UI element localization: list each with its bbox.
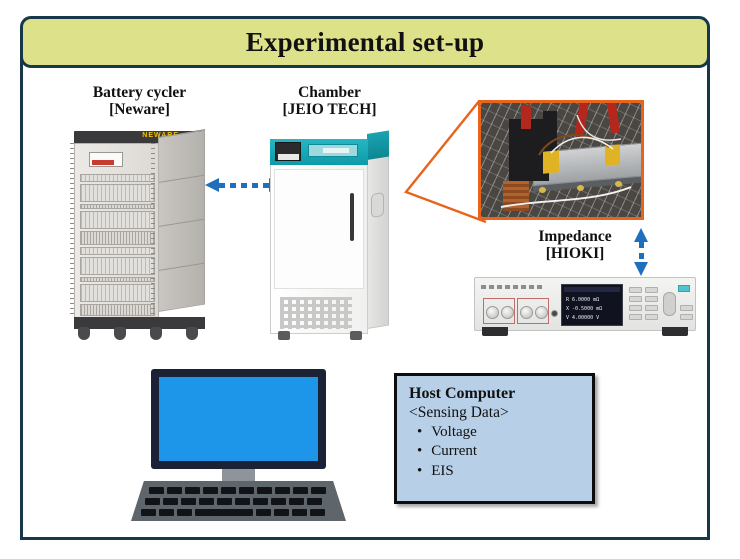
meter-terminal — [520, 306, 533, 319]
chamber-controller-display — [275, 142, 301, 161]
arrow-dashes — [639, 242, 644, 262]
chamber-image — [264, 131, 394, 341]
chamber-side-panel — [367, 131, 389, 329]
caption-battery-cycler: Battery cycler [Neware] — [66, 84, 213, 119]
impedance-meter-image: R 6.0000 mΩ X -0.5000 mΩ V 4.00000 V — [474, 277, 696, 339]
caption-impedance: Impedance [HIOKI] — [518, 228, 632, 263]
meter-key[interactable] — [645, 287, 658, 293]
meter-key[interactable] — [629, 287, 642, 293]
meter-key[interactable] — [629, 305, 642, 311]
arrow-head-up-icon — [634, 228, 648, 242]
photo-bolt — [577, 185, 584, 191]
meter-key[interactable] — [680, 305, 693, 311]
arrow-dashes — [219, 183, 269, 188]
meter-key[interactable] — [629, 296, 642, 302]
battery-pack-photo — [478, 100, 644, 220]
chamber-caster — [278, 331, 290, 340]
host-box-item-label: Current — [431, 443, 477, 459]
meter-lcd-display: R 6.0000 mΩ X -0.5000 mΩ V 4.00000 V — [561, 284, 623, 326]
monitor-screen — [159, 377, 318, 461]
cycler-side-seam — [159, 263, 204, 271]
caption-chamber: Chamber [JEIO TECH] — [256, 84, 403, 119]
cycler-module — [80, 257, 155, 275]
cycler-module — [80, 247, 155, 255]
meter-foot — [482, 327, 508, 336]
meter-body: R 6.0000 mΩ X -0.5000 mΩ V 4.00000 V — [474, 277, 696, 331]
meter-lcd-statusbar — [564, 287, 620, 292]
caption-impedance-line1: Impedance — [518, 228, 632, 245]
meter-key[interactable] — [645, 305, 658, 311]
caption-impedance-line2: [HIOKI] — [518, 245, 632, 262]
meter-key[interactable] — [629, 314, 642, 320]
host-box-subtitle: <Sensing Data> — [409, 403, 592, 422]
chamber-controller-keypad — [308, 144, 358, 157]
host-box-bullet: • — [417, 463, 431, 479]
cycler-front-panel — [74, 143, 159, 318]
meter-power-button[interactable] — [678, 285, 690, 292]
cycler-caster — [150, 327, 162, 340]
host-box-bullet: • — [417, 424, 431, 440]
meter-key[interactable] — [645, 296, 658, 302]
meter-reading-resistance: R 6.0000 mΩ — [566, 297, 599, 303]
caption-battery-cycler-line1: Battery cycler — [66, 84, 213, 101]
cycler-module — [80, 211, 155, 229]
caption-chamber-line2: [JEIO TECH] — [256, 101, 403, 118]
cycler-module — [80, 184, 155, 202]
cycler-module-slim — [80, 304, 155, 316]
arrow-head-left-icon — [205, 178, 219, 192]
meter-navigation-pad[interactable] — [663, 292, 676, 316]
meter-terminal — [535, 306, 548, 319]
host-box-item: •Current — [409, 442, 592, 462]
meter-reading-reactance: X -0.5000 mΩ — [566, 306, 602, 312]
host-box-item-label: Voltage — [431, 424, 477, 440]
cycler-caster — [114, 327, 126, 340]
cycler-rail-left — [70, 143, 74, 318]
cycler-caster — [186, 327, 198, 340]
cycler-caster — [78, 327, 90, 340]
chamber-vent-grille — [280, 297, 352, 329]
cycler-module — [80, 284, 155, 302]
cycler-side-panel — [158, 130, 205, 312]
cycler-side-seam — [159, 219, 204, 227]
cycler-module-slim — [80, 277, 155, 282]
keyboard[interactable] — [131, 481, 346, 521]
cycler-module — [80, 174, 155, 182]
caption-chamber-line1: Chamber — [256, 84, 403, 101]
meter-model-text — [481, 285, 543, 289]
host-box-item: •EIS — [409, 462, 592, 482]
meter-terminal — [486, 306, 499, 319]
host-computer-image — [131, 369, 346, 524]
meter-key[interactable] — [680, 314, 693, 320]
chamber-door-handle — [350, 193, 354, 241]
chamber-side-knob — [371, 192, 384, 218]
chamber-control-panel-side — [367, 131, 389, 160]
meter-foot — [662, 327, 688, 336]
arrow-head-down-icon — [634, 262, 648, 276]
photo-sensor-wires-icon — [481, 103, 644, 220]
monitor-stand — [222, 469, 255, 481]
cycler-side-seam — [159, 175, 204, 183]
host-box-item-label: EIS — [431, 463, 454, 479]
page-title: Experimental set-up — [246, 27, 485, 58]
battery-cycler-image: NEWARE — [66, 131, 213, 343]
cycler-module-slim — [80, 231, 155, 245]
host-box-item: •Voltage — [409, 423, 592, 443]
meter-key[interactable] — [645, 314, 658, 320]
photo-bolt — [615, 181, 622, 187]
caption-battery-cycler-line2: [Neware] — [66, 101, 213, 118]
link-arrow-impedance — [634, 228, 648, 276]
meter-ground-terminal — [551, 310, 558, 317]
cycler-module-slim — [80, 204, 155, 209]
chamber-caster — [350, 331, 362, 340]
cycler-rail-right — [151, 143, 155, 318]
meter-terminal — [501, 306, 514, 319]
monitor-bezel — [151, 369, 326, 469]
title-banner: Experimental set-up — [20, 16, 710, 68]
cycler-base — [74, 317, 205, 329]
host-box-title: Host Computer — [409, 384, 592, 403]
photo-bolt — [539, 187, 546, 193]
host-box-bullet: • — [417, 443, 431, 459]
host-computer-info-box: Host Computer <Sensing Data> •Voltage •C… — [394, 373, 595, 504]
cycler-display — [89, 152, 123, 167]
meter-reading-voltage: V 4.00000 V — [566, 315, 599, 321]
